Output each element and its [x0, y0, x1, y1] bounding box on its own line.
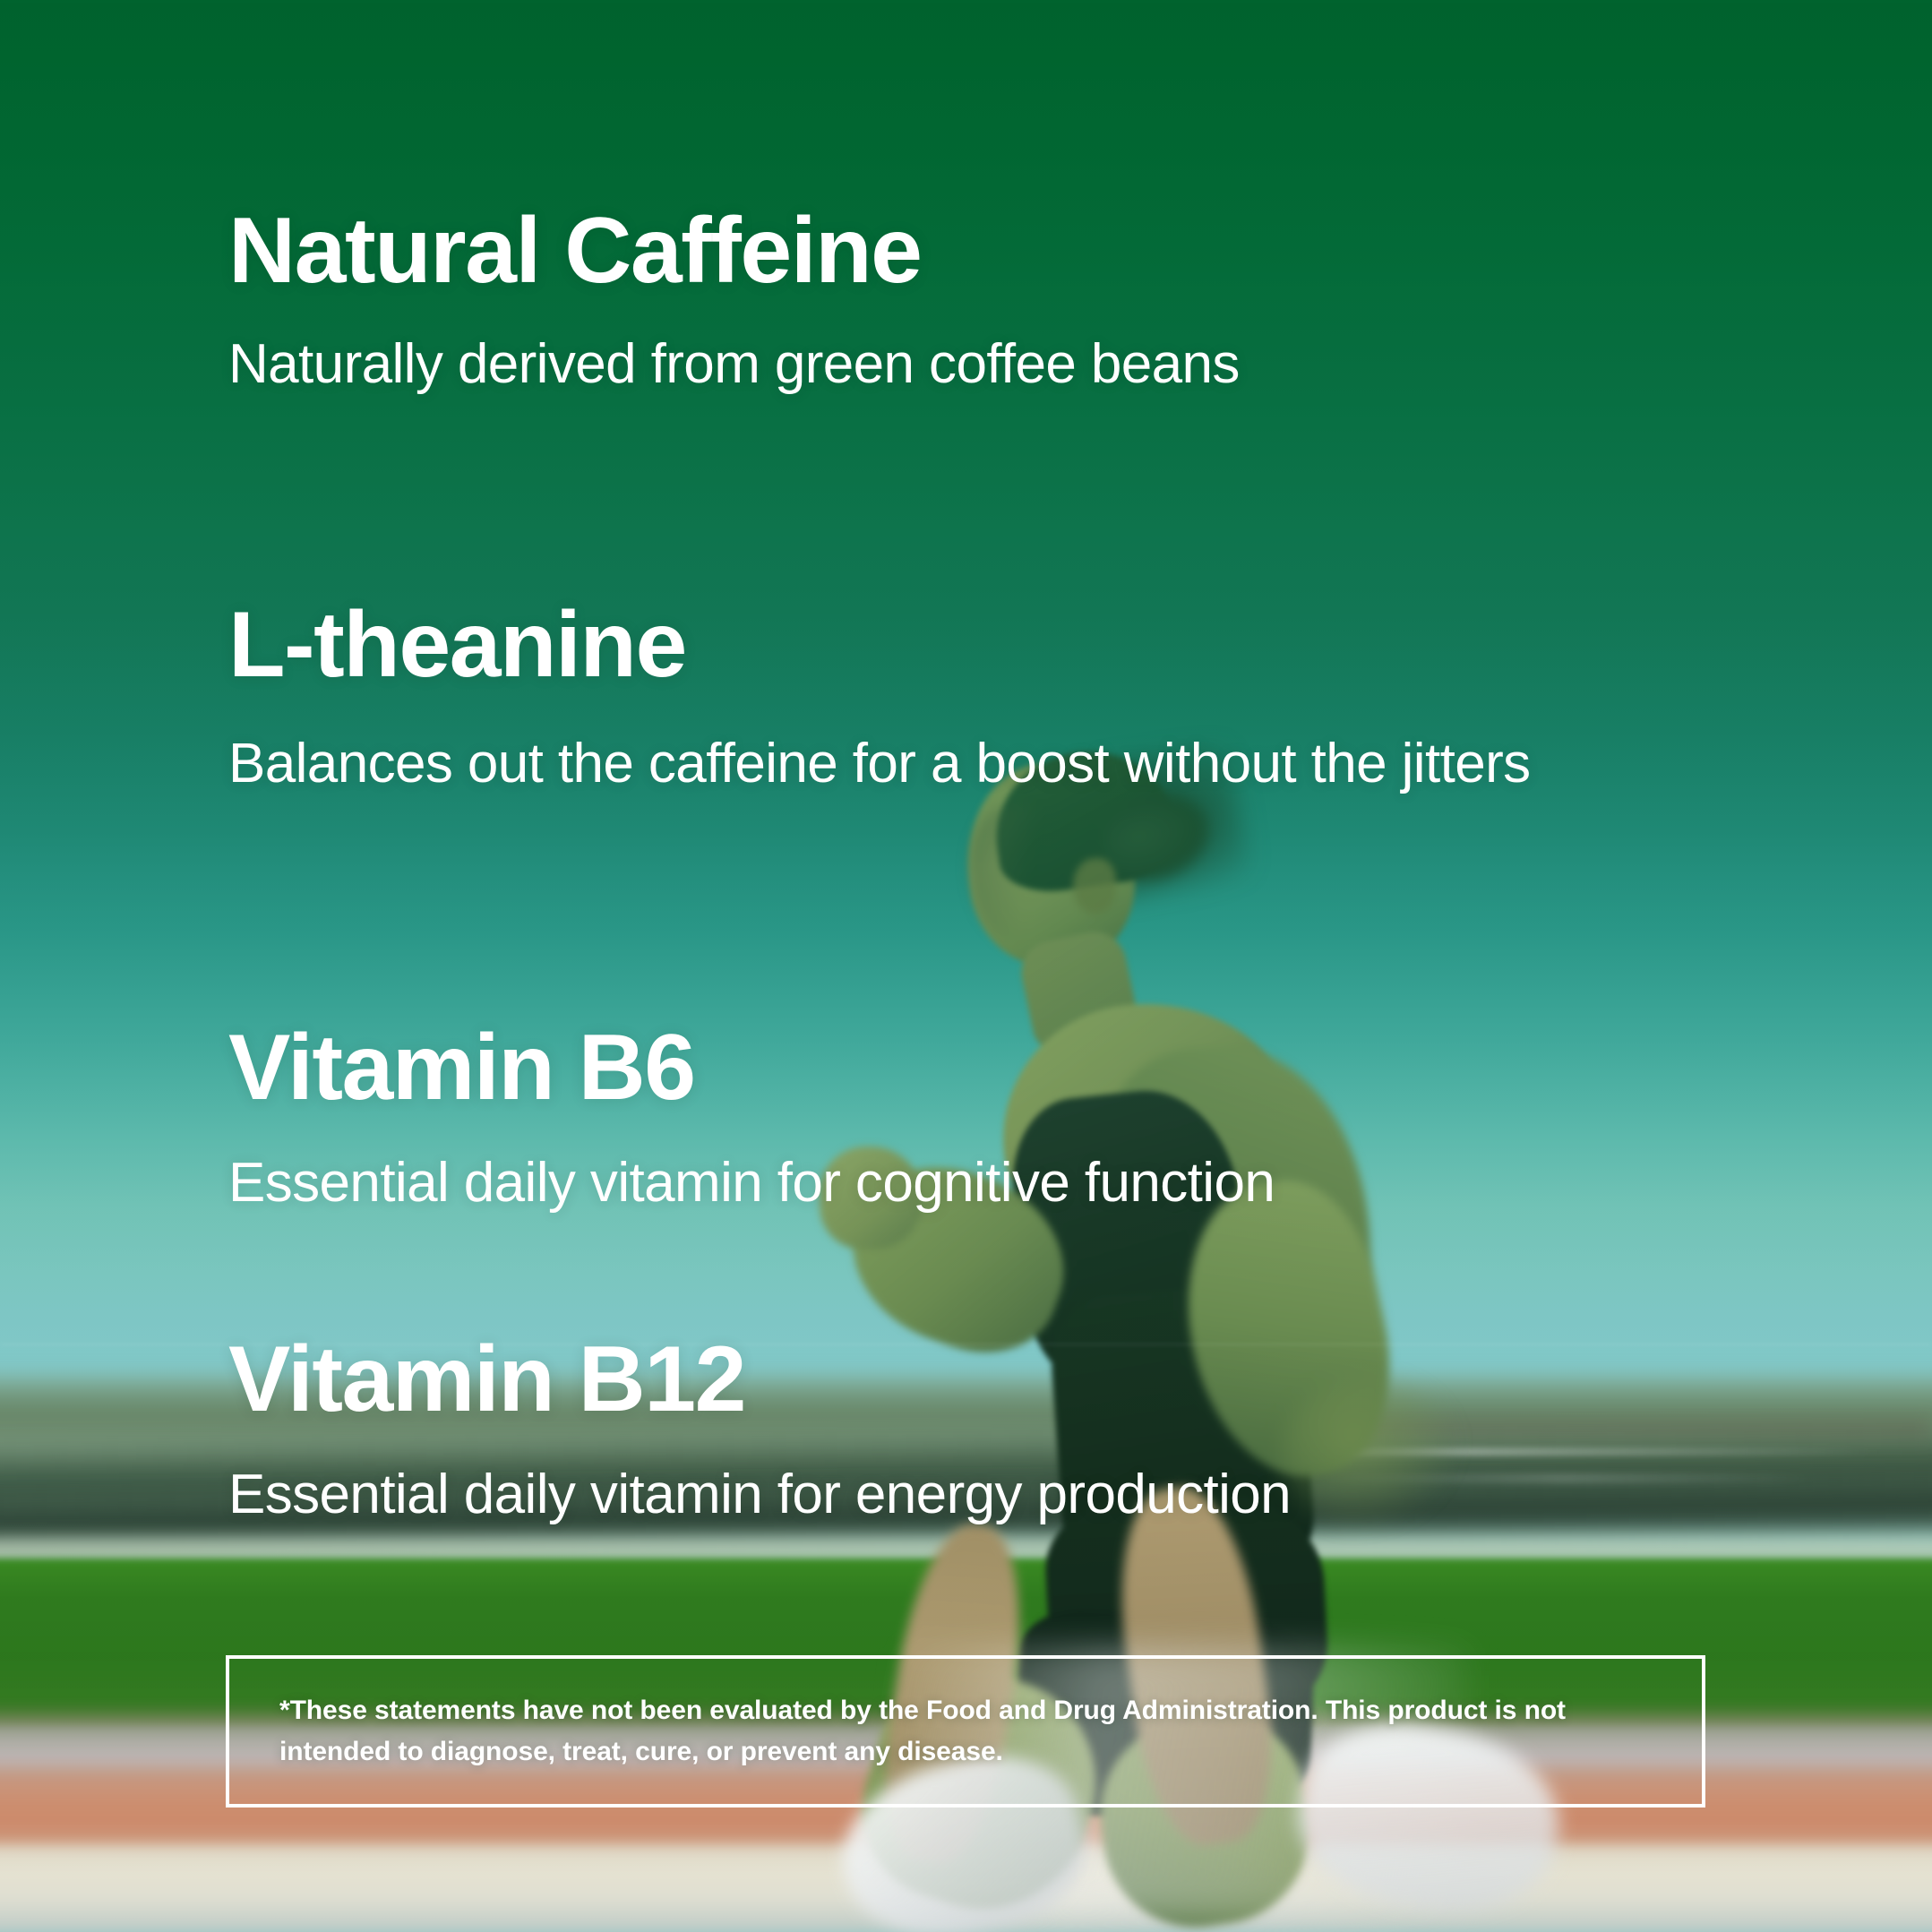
- fda-disclaimer-text: *These statements have not been evaluate…: [229, 1690, 1702, 1773]
- ingredient-item-vitamin-b12: Vitamin B12 Essential daily vitamin for …: [228, 1333, 1789, 1528]
- ingredient-name-natural-caffeine: Natural Caffeine: [228, 204, 1789, 297]
- ingredient-panel: Natural Caffeine Naturally derived from …: [0, 0, 1932, 1932]
- ingredient-name-vitamin-b6: Vitamin B6: [228, 1021, 1789, 1114]
- ingredient-name-vitamin-b12: Vitamin B12: [228, 1333, 1789, 1426]
- ingredient-item-l-theanine: L-theanine Balances out the caffeine for…: [228, 598, 1789, 797]
- ingredient-item-vitamin-b6: Vitamin B6 Essential daily vitamin for c…: [228, 1021, 1789, 1216]
- fda-disclaimer-box: *These statements have not been evaluate…: [226, 1655, 1705, 1807]
- ingredient-description-natural-caffeine: Naturally derived from green coffee bean…: [228, 331, 1789, 398]
- ingredient-item-natural-caffeine: Natural Caffeine Naturally derived from …: [228, 204, 1789, 398]
- ingredient-name-l-theanine: L-theanine: [228, 598, 1789, 691]
- ingredient-description-vitamin-b6: Essential daily vitamin for cognitive fu…: [228, 1150, 1789, 1216]
- ingredient-list: Natural Caffeine Naturally derived from …: [0, 0, 1932, 1932]
- ingredient-description-l-theanine: Balances out the caffeine for a boost wi…: [228, 731, 1789, 797]
- ingredient-description-vitamin-b12: Essential daily vitamin for energy produ…: [228, 1462, 1789, 1528]
